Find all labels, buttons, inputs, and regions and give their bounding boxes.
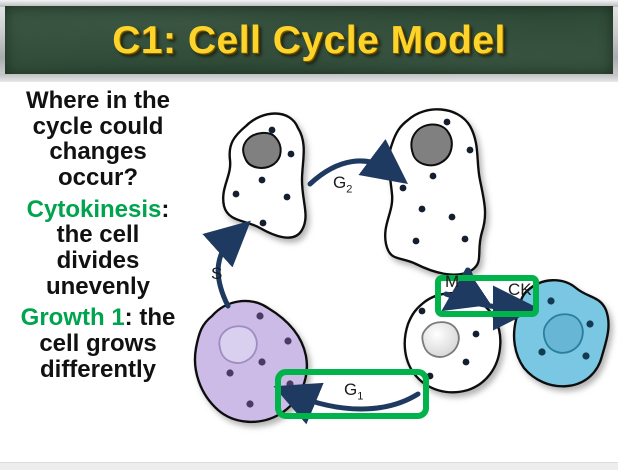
chalkboard: C1: Cell Cycle Model (5, 6, 613, 75)
phase-label-s: S (211, 264, 222, 284)
cell-mitosis-white (405, 293, 501, 392)
phase-label-g2-sub: 2 (346, 183, 352, 195)
phase-label-g2: G2 (333, 173, 352, 195)
phase-label-m: M (445, 272, 459, 292)
page-title: C1: Cell Cycle Model (112, 19, 506, 63)
cell-interphase-top-left (223, 114, 305, 238)
slide: C1: Cell Cycle Model Where in the cycle … (0, 0, 618, 470)
phase-label-g1-sub: 1 (357, 390, 363, 402)
term-cytokinesis: Cytokinesis (27, 196, 162, 223)
phase-label-ck: CK (508, 280, 532, 300)
phase-label-g1: G1 (344, 380, 363, 402)
phase-label-g1-text: G (344, 380, 357, 399)
cell-interphase-top-right (385, 109, 485, 274)
bottom-divider (0, 462, 618, 470)
phase-label-g2-text: G (333, 173, 346, 192)
cell-cycle-diagram: G2 G1 S M CK (150, 84, 618, 470)
term-growth1: Growth 1 (21, 304, 125, 331)
chalkboard-frame: C1: Cell Cycle Model (0, 0, 618, 82)
